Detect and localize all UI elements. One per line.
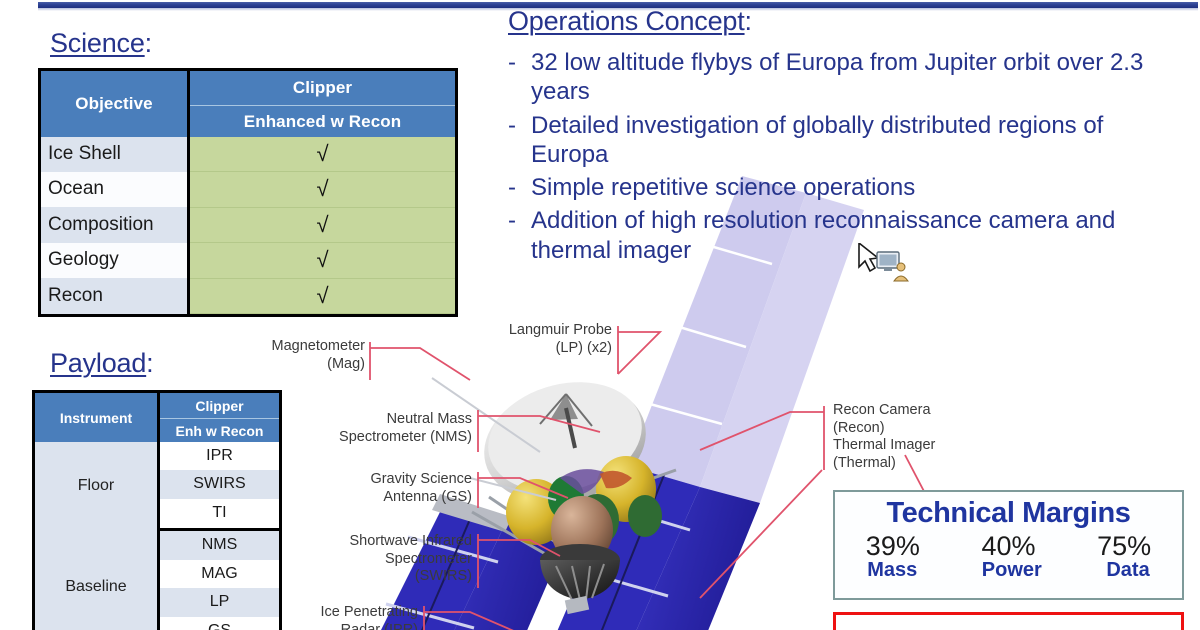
propellant-tanks bbox=[506, 456, 662, 564]
payload-col-group-header: Clipper bbox=[159, 393, 280, 419]
payload-instruments-table: Instrument Clipper Enh w Recon Floor IPR… bbox=[32, 390, 282, 630]
list-item: - Detailed investigation of globally dis… bbox=[508, 111, 1168, 170]
operations-concept-colon: : bbox=[745, 6, 752, 36]
payload-instrument-cell: NMS bbox=[159, 529, 280, 560]
table-row: Recon √ bbox=[41, 278, 455, 313]
bullet-dash: - bbox=[508, 111, 521, 170]
technical-margins-title: Technical Margins bbox=[835, 497, 1182, 530]
callout-magnetometer: Magnetometer(Mag) bbox=[180, 338, 365, 373]
bullet-text: Simple repetitive science operations bbox=[531, 173, 1168, 202]
table-row: Composition √ bbox=[41, 207, 455, 242]
table-row: Geology √ bbox=[41, 243, 455, 278]
bullet-dash: - bbox=[508, 173, 521, 202]
payload-instrument-cell: TI bbox=[159, 499, 280, 530]
payload-col-sub-header: Enh w Recon bbox=[159, 419, 280, 443]
operations-concept-heading-text: Operations Concept bbox=[508, 6, 745, 36]
science-objectives-table: Objective Clipper Enhanced w Recon Ice S… bbox=[38, 68, 458, 317]
table-row: Floor IPR bbox=[35, 442, 279, 470]
payload-heading-colon: : bbox=[146, 348, 153, 378]
science-col-group-header: Clipper bbox=[189, 71, 456, 106]
technical-margins-values: 39% 40% 75% bbox=[835, 531, 1182, 562]
science-check-cell: √ bbox=[189, 278, 456, 313]
technical-margins-labels: Mass Power Data bbox=[835, 559, 1182, 582]
callout-recon-camera-thermal-imager: Recon Camera(Recon)Thermal Imager(Therma… bbox=[833, 402, 1033, 473]
network-computer-cursor-icon bbox=[857, 243, 921, 287]
list-item: - Simple repetitive science operations bbox=[508, 173, 1168, 202]
table-row: Ocean √ bbox=[41, 172, 455, 207]
bullet-dash: - bbox=[508, 48, 521, 107]
payload-group-floor: Floor bbox=[35, 442, 159, 529]
operations-concept-heading: Operations Concept: bbox=[508, 6, 752, 37]
science-heading: Science: bbox=[50, 28, 152, 59]
bullet-dash: - bbox=[508, 206, 521, 265]
margin-value-power: 40% bbox=[981, 531, 1035, 562]
structure-booms bbox=[472, 470, 676, 560]
technical-margins-box: Technical Margins 39% 40% 75% Mass Power… bbox=[833, 490, 1184, 600]
operations-concept-bullets: - 32 low altitude flybys of Europa from … bbox=[508, 48, 1168, 269]
payload-instrument-cell: SWIRS bbox=[159, 470, 280, 498]
science-objective-cell: Geology bbox=[41, 243, 189, 278]
margin-label-mass: Mass bbox=[867, 559, 917, 582]
science-objective-cell: Ocean bbox=[41, 172, 189, 207]
bullet-text: Addition of high resolution reconnaissan… bbox=[531, 206, 1168, 265]
science-check-cell: √ bbox=[189, 137, 456, 172]
high-gain-antenna bbox=[471, 367, 658, 519]
payload-heading: Payload: bbox=[50, 348, 153, 379]
science-col-objective-header: Objective bbox=[41, 71, 189, 137]
payload-instrument-cell: MAG bbox=[159, 560, 280, 588]
science-heading-text: Science bbox=[50, 28, 145, 58]
bullet-text: 32 low altitude flybys of Europa from Ju… bbox=[531, 48, 1168, 107]
margin-value-data: 75% bbox=[1097, 531, 1151, 562]
spacecraft-bus bbox=[540, 544, 620, 614]
science-check-cell: √ bbox=[189, 207, 456, 242]
red-highlight-box bbox=[833, 612, 1184, 630]
payload-group-baseline: Baseline bbox=[35, 529, 159, 630]
science-objective-cell: Ice Shell bbox=[41, 137, 189, 172]
science-check-cell: √ bbox=[189, 172, 456, 207]
science-col-sub-header: Enhanced w Recon bbox=[189, 106, 456, 138]
payload-heading-text: Payload bbox=[50, 348, 146, 378]
solar-panel-upper-opaque bbox=[556, 466, 760, 630]
science-check-cell: √ bbox=[189, 243, 456, 278]
margin-value-mass: 39% bbox=[866, 531, 920, 562]
science-objective-cell: Recon bbox=[41, 278, 189, 313]
callout-swirs: Shortwave InfraredSpectrometer(SWIRS) bbox=[300, 533, 472, 586]
science-heading-colon: : bbox=[145, 28, 152, 58]
callout-gravity-science-antenna: Gravity ScienceAntenna (GS) bbox=[300, 471, 472, 506]
payload-col-instrument-header: Instrument bbox=[35, 393, 159, 442]
table-row: Baseline NMS bbox=[35, 529, 279, 560]
list-item: - 32 low altitude flybys of Europa from … bbox=[508, 48, 1168, 107]
bullet-text: Detailed investigation of globally distr… bbox=[531, 111, 1168, 170]
slide-canvas: Science: Objective Clipper Enhanced w Re… bbox=[0, 0, 1200, 630]
margin-label-data: Data bbox=[1106, 559, 1149, 582]
margin-label-power: Power bbox=[982, 559, 1042, 582]
table-row: Ice Shell √ bbox=[41, 137, 455, 172]
science-objective-cell: Composition bbox=[41, 207, 189, 242]
callout-ice-penetrating-radar: Ice PenetratingRadar (IPR) bbox=[250, 604, 418, 630]
list-item: - Addition of high resolution reconnaiss… bbox=[508, 206, 1168, 265]
callout-langmuir-probe: Langmuir Probe(LP) (x2) bbox=[440, 322, 612, 357]
payload-instrument-cell: IPR bbox=[159, 442, 280, 470]
callout-neutral-mass-spectrometer: Neutral MassSpectrometer (NMS) bbox=[300, 411, 472, 446]
